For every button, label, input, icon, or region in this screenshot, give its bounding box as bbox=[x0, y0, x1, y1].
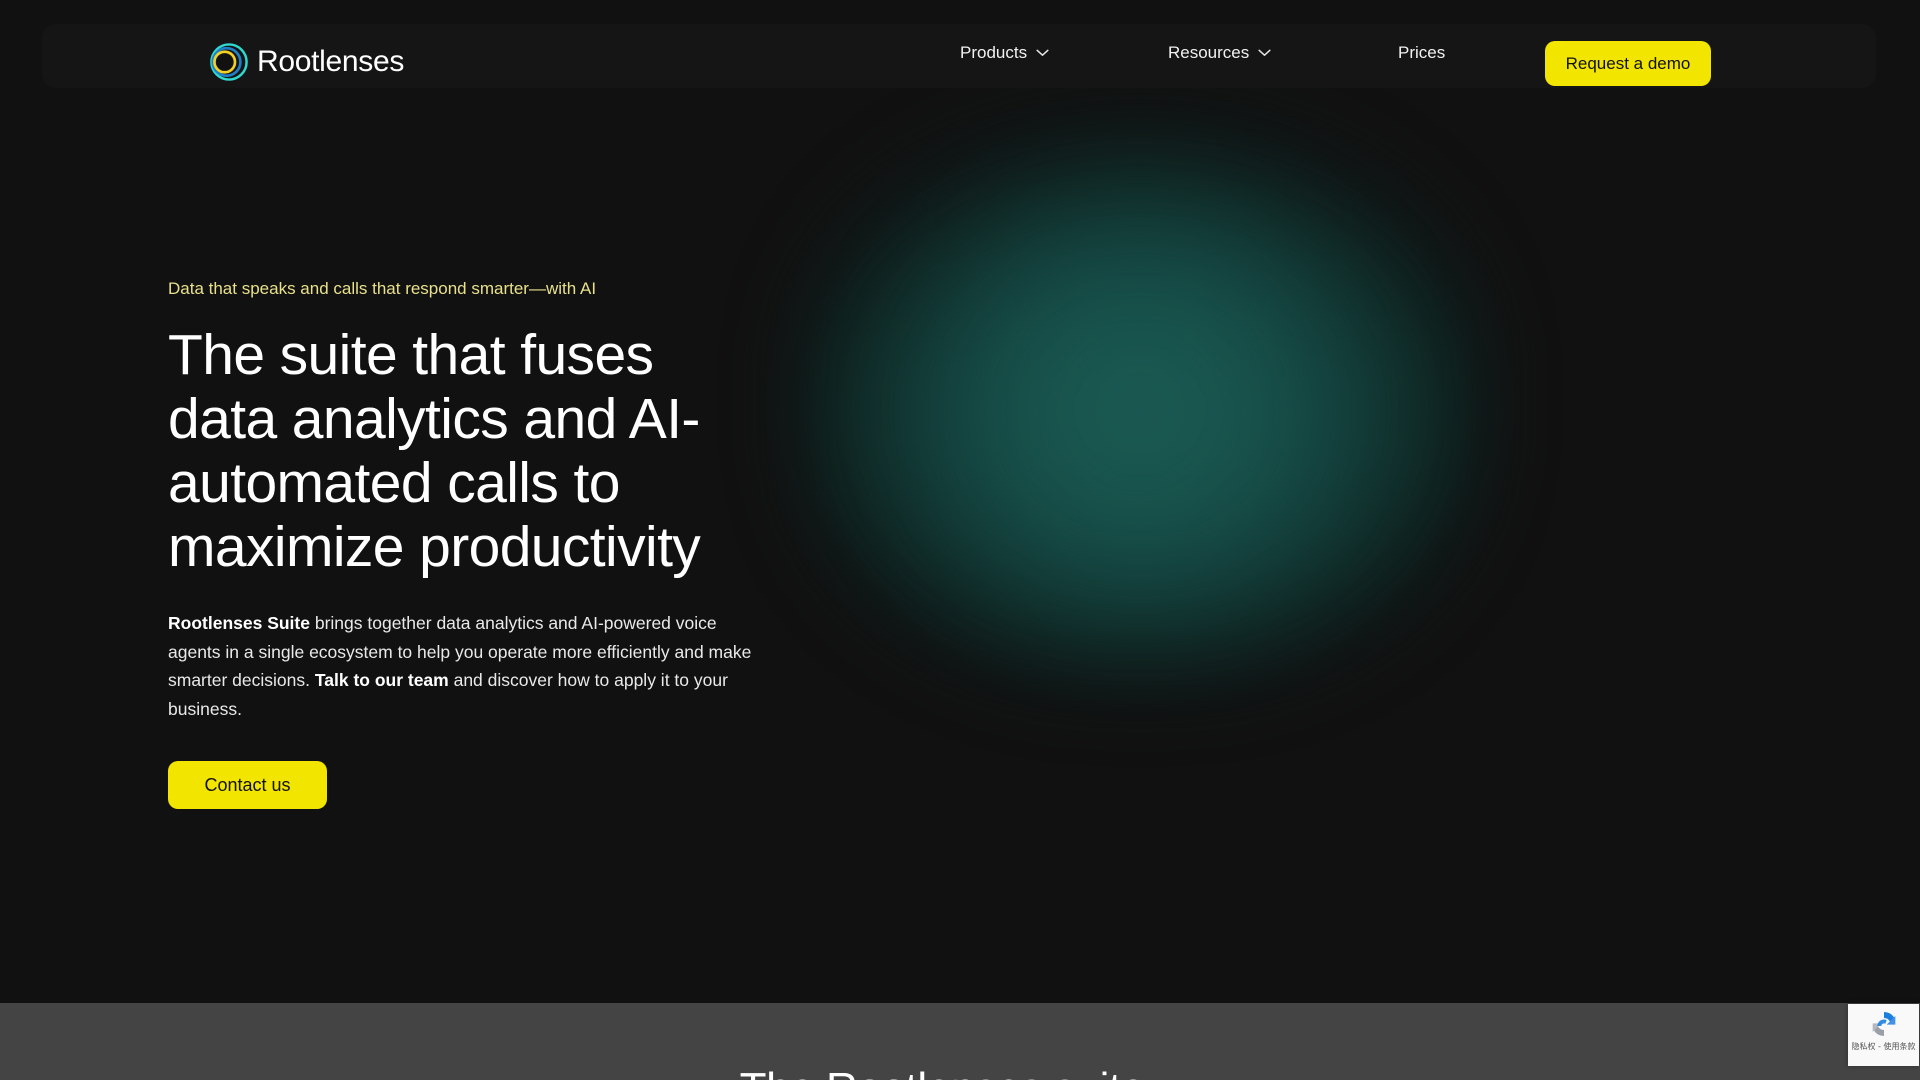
hero-section: Rootlenses Products Resources bbox=[0, 0, 1920, 1003]
hero-description-lead-bold: Rootlenses Suite bbox=[168, 613, 310, 633]
hero-eyebrow: Data that speaks and calls that respond … bbox=[168, 278, 788, 300]
recaptcha-logo-icon bbox=[1868, 1008, 1900, 1040]
next-section: The Rootlenses suite... bbox=[0, 1003, 1920, 1080]
recaptcha-badge[interactable]: 隐私权 - 使用条款 bbox=[1848, 1004, 1919, 1066]
chevron-down-icon bbox=[1036, 49, 1049, 57]
primary-nav: Products Resources bbox=[960, 44, 1526, 61]
concentric-rings-logo-icon bbox=[210, 43, 248, 81]
hero-content: Data that speaks and calls that respond … bbox=[168, 278, 788, 809]
page-root: Rootlenses Products Resources bbox=[0, 0, 1920, 1080]
nav-slot-products: Products bbox=[960, 44, 1168, 61]
nav-item-resources[interactable]: Resources bbox=[1168, 44, 1271, 61]
nav-item-resources-label: Resources bbox=[1168, 44, 1249, 61]
next-section-title: The Rootlenses suite... bbox=[0, 1063, 1920, 1080]
hero-glow-core bbox=[880, 200, 1400, 620]
hero-title: The suite that fuses data analytics and … bbox=[168, 324, 728, 579]
nav-item-products-label: Products bbox=[960, 44, 1027, 61]
contact-us-button[interactable]: Contact us bbox=[168, 761, 327, 809]
chevron-down-icon bbox=[1258, 49, 1271, 57]
recaptcha-links[interactable]: 隐私权 - 使用条款 bbox=[1852, 1043, 1916, 1052]
brand-name: Rootlenses bbox=[257, 47, 404, 77]
nav-slot-prices: Prices bbox=[1376, 44, 1526, 61]
hero-description: Rootlenses Suite brings together data an… bbox=[168, 609, 773, 723]
site-header: Rootlenses Products Resources bbox=[0, 0, 1920, 110]
nav-item-products[interactable]: Products bbox=[960, 44, 1049, 61]
nav-item-prices[interactable]: Prices bbox=[1398, 44, 1445, 61]
request-demo-button[interactable]: Request a demo bbox=[1545, 41, 1711, 86]
nav-item-prices-label: Prices bbox=[1398, 44, 1445, 61]
nav-slot-resources: Resources bbox=[1168, 44, 1376, 61]
hero-description-mid-bold: Talk to our team bbox=[315, 670, 449, 690]
brand-logo[interactable]: Rootlenses bbox=[210, 43, 404, 81]
hero-glow-backdrop bbox=[790, 105, 1490, 695]
